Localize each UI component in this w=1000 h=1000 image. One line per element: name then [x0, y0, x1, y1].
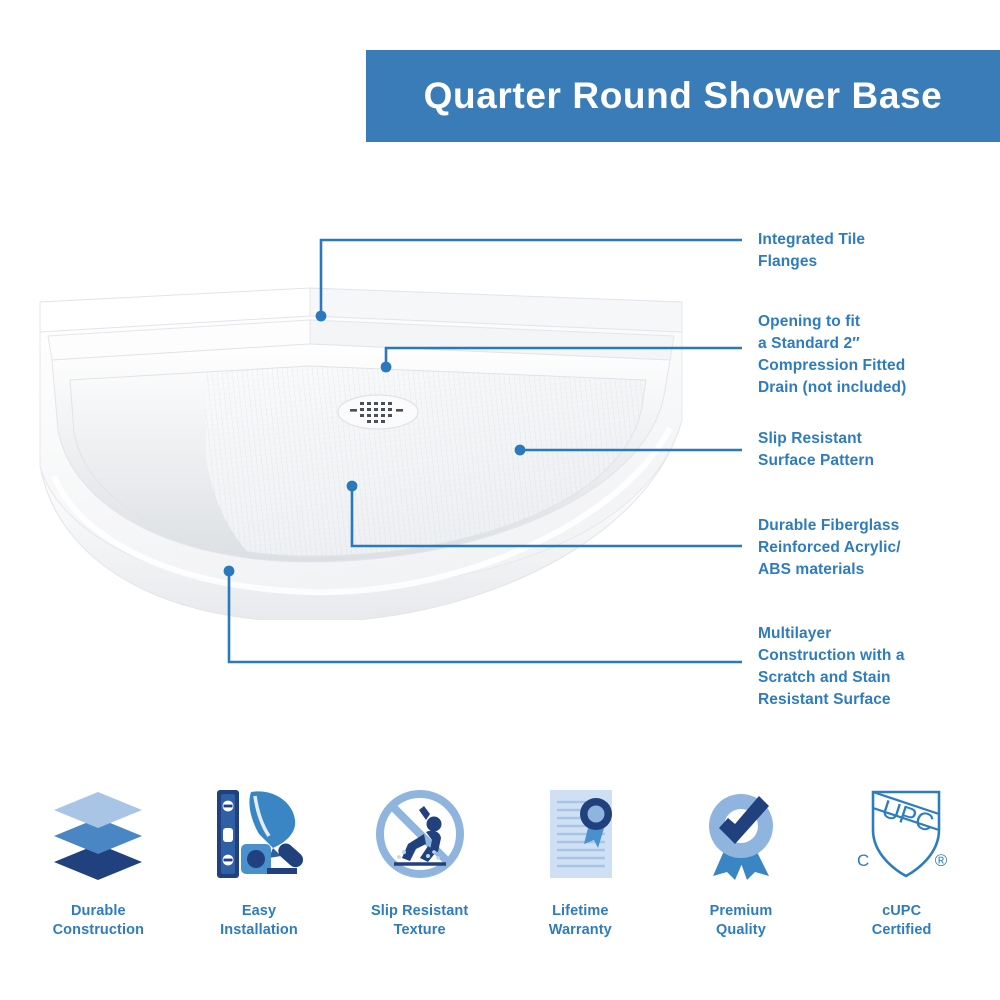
- feature-premium-quality: Premium Quality: [666, 778, 816, 940]
- callout-label-drain-opening: Opening to fit a Standard 2″ Compression…: [758, 311, 998, 399]
- callout-line: Integrated Tile: [758, 229, 998, 251]
- feature-label-line: Installation: [220, 921, 298, 940]
- cupc-shield-icon: UPC C ®: [847, 778, 957, 890]
- warranty-certificate-icon: [528, 778, 632, 890]
- callout-line: Reinforced Acrylic/: [758, 537, 998, 559]
- cupc-registered-mark: ®: [934, 851, 947, 870]
- callout-line: Resistant Surface: [758, 689, 998, 711]
- feature-label: cUPC Certified: [872, 902, 932, 940]
- level-trowel-icon: [207, 778, 311, 890]
- feature-label: Premium Quality: [710, 902, 773, 940]
- cupc-shield-text: UPC: [878, 795, 937, 838]
- feature-durable-construction: Durable Construction: [23, 778, 173, 940]
- callout-line: Construction with a: [758, 645, 998, 667]
- callout-line: Durable Fiberglass: [758, 515, 998, 537]
- callout-line: Flanges: [758, 251, 998, 273]
- feature-badge-strip: Durable Construction: [0, 778, 1000, 978]
- feature-label: Easy Installation: [220, 902, 298, 940]
- callout-line: Drain (not included): [758, 377, 998, 399]
- feature-label-line: cUPC: [872, 902, 932, 921]
- feature-label: Slip Resistant Texture: [371, 902, 468, 940]
- feature-label-line: Premium: [710, 902, 773, 921]
- feature-label-line: Construction: [53, 921, 144, 940]
- no-slip-icon: [368, 778, 472, 890]
- feature-label-line: Durable: [53, 902, 144, 921]
- product-illustration: [10, 270, 710, 620]
- callout-line: Slip Resistant: [758, 428, 998, 450]
- feature-label-line: Quality: [710, 921, 773, 940]
- callout-line: Compression Fitted: [758, 355, 998, 377]
- feature-label-line: Certified: [872, 921, 932, 940]
- cupc-prefix-mark: C: [857, 851, 869, 870]
- feature-cupc-certified: UPC C ® cUPC Certified: [827, 778, 977, 940]
- ribbon-check-icon: [689, 778, 793, 890]
- feature-easy-installation: Easy Installation: [184, 778, 334, 940]
- feature-label-line: Easy: [220, 902, 298, 921]
- feature-label-line: Texture: [371, 921, 468, 940]
- callout-label-durable-materials: Durable Fiberglass Reinforced Acrylic/ A…: [758, 515, 998, 581]
- page-title-banner: Quarter Round Shower Base: [366, 50, 1000, 142]
- feature-slip-resistant-texture: Slip Resistant Texture: [345, 778, 495, 940]
- shower-base-drawing: [10, 270, 710, 620]
- page-title: Quarter Round Shower Base: [424, 75, 943, 117]
- drain-plate: [338, 395, 418, 429]
- stacked-layers-icon: [46, 778, 150, 890]
- feature-label-line: Slip Resistant: [371, 902, 468, 921]
- callout-line: a Standard 2″: [758, 333, 998, 355]
- drain-assembly: [338, 395, 418, 429]
- feature-label: Durable Construction: [53, 902, 144, 940]
- feature-label: Lifetime Warranty: [549, 902, 612, 940]
- feature-lifetime-warranty: Lifetime Warranty: [505, 778, 655, 940]
- feature-label-line: Lifetime: [549, 902, 612, 921]
- callout-line: Scratch and Stain: [758, 667, 998, 689]
- callout-line: Opening to fit: [758, 311, 998, 333]
- feature-label-line: Warranty: [549, 921, 612, 940]
- callout-line: ABS materials: [758, 559, 998, 581]
- callout-label-integrated-tile-flanges: Integrated Tile Flanges: [758, 229, 998, 273]
- callout-line: Surface Pattern: [758, 450, 998, 472]
- callout-label-slip-resistant-surface: Slip Resistant Surface Pattern: [758, 428, 998, 472]
- callout-label-multilayer-construction: Multilayer Construction with a Scratch a…: [758, 623, 998, 711]
- callout-line: Multilayer: [758, 623, 998, 645]
